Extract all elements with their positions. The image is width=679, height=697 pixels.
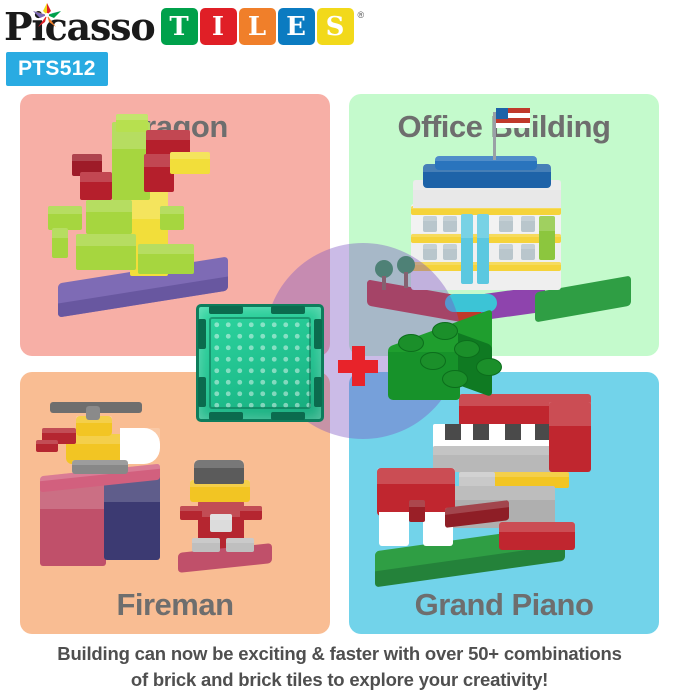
baseplate-stud-field: [209, 317, 311, 409]
logo-tile-s: S: [317, 8, 354, 45]
pinwheel-star-icon: [32, 2, 62, 28]
green-2x3-brick: [388, 308, 506, 406]
brand-logo: Picasso T I L: [4, 4, 364, 46]
caption-line-1: Building can now be exciting & faster wi…: [0, 641, 679, 667]
registered-trademark-icon: ®: [358, 10, 365, 20]
caption-line-2: of brick and brick tiles to explore your…: [0, 667, 679, 693]
plus-operator-icon: [338, 346, 378, 386]
brand-wordmark: Picasso: [4, 8, 155, 46]
logo-tile-letter: E: [286, 14, 306, 40]
logo-tile-i: I: [200, 8, 237, 45]
logo-tile-letter: T: [169, 14, 188, 40]
green-baseplate-tile: [196, 304, 324, 422]
header: Picasso T I L: [0, 0, 679, 88]
logo-tile-letter: S: [326, 14, 345, 40]
logo-tile-t: T: [161, 8, 198, 45]
logo-tile-letter: L: [248, 14, 266, 40]
logo-tile-e: E: [278, 8, 315, 45]
sku-badge: PTS512: [6, 52, 108, 86]
tiles-wordmark: T I L E S ®: [161, 8, 365, 45]
center-combination-graphic: [170, 246, 510, 436]
logo-tile-l: L: [239, 8, 276, 45]
marketing-caption: Building can now be exciting & faster wi…: [0, 641, 679, 693]
logo-tile-letter: I: [212, 14, 224, 40]
